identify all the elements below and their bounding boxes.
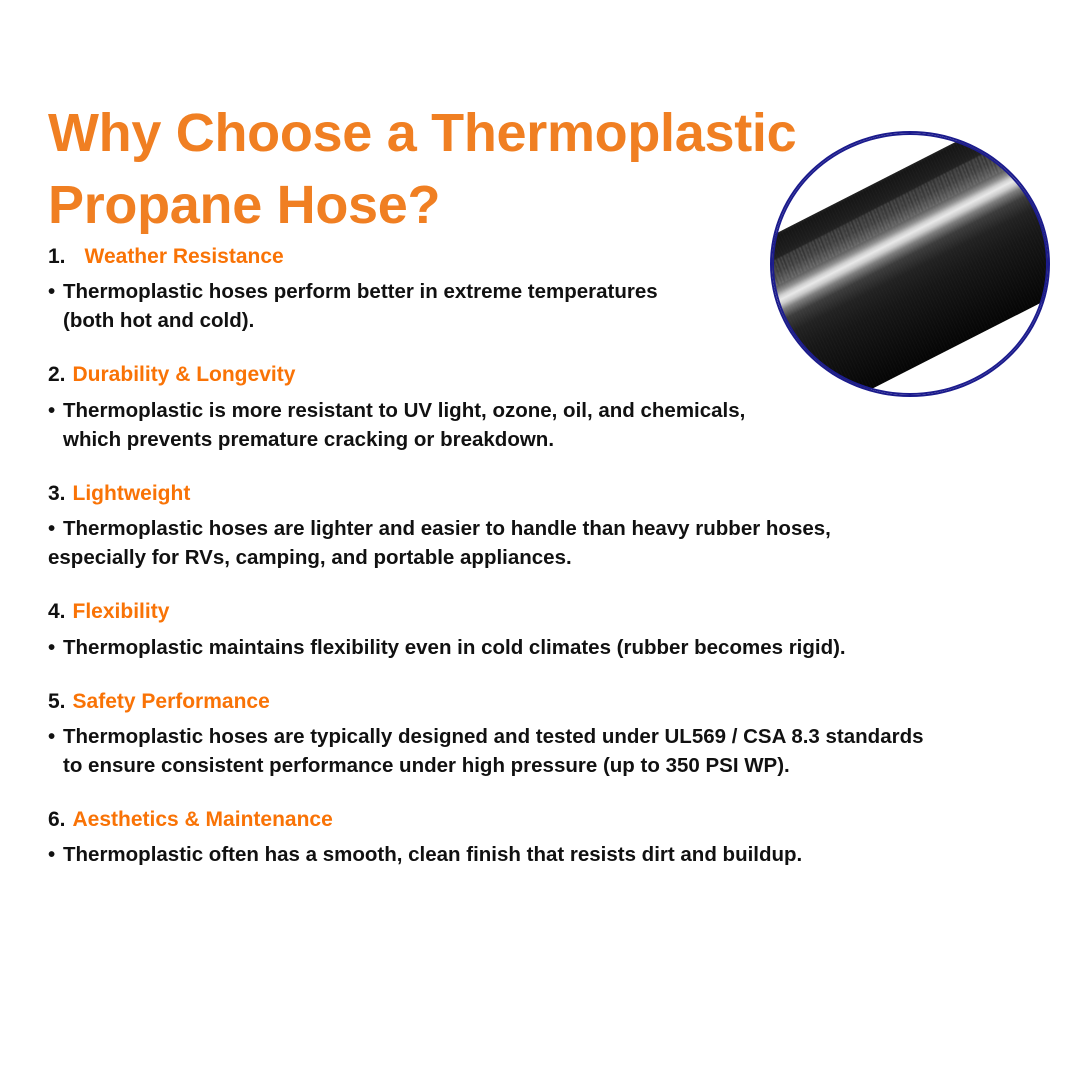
list-item: 3.Lightweight•Thermoplastic hoses are li…: [48, 481, 1056, 572]
bullet-dot-icon: •: [48, 722, 63, 751]
bullet-dot-icon: •: [48, 396, 63, 425]
list-item-body-text: Thermoplastic hoses are lighter and easi…: [48, 514, 1056, 572]
list-item-body-text: Thermoplastic hoses are typically design…: [63, 722, 1056, 780]
list-item-body-text: Thermoplastic often has a smooth, clean …: [48, 840, 1056, 869]
infographic-page: Why Choose a Thermoplastic Propane Hose?…: [0, 0, 1080, 1080]
hose-photo-circle: [772, 133, 1048, 395]
list-item-heading: 3.Lightweight: [48, 481, 1056, 507]
list-item-body-text: Thermoplastic is more resistant to UV li…: [63, 396, 1056, 454]
page-title: Why Choose a Thermoplastic Propane Hose?: [48, 98, 848, 242]
list-item-bullet-row: •Thermoplastic hoses are lighter and eas…: [48, 514, 1056, 572]
list-item: 4.Flexibility•Thermoplastic maintains fl…: [48, 599, 1056, 661]
list-item-body-text: Thermoplastic maintains flexibility even…: [48, 633, 1056, 662]
list-item-number: 6.: [48, 807, 66, 833]
list-item-number: 2.: [48, 362, 66, 388]
list-item: 6.Aesthetics & Maintenance•Thermoplastic…: [48, 807, 1056, 869]
list-item-number: 4.: [48, 599, 66, 625]
list-item-title: Flexibility: [73, 599, 170, 625]
list-item-bullet-row: •Thermoplastic often has a smooth, clean…: [48, 840, 1056, 869]
list-item-number: 3.: [48, 481, 66, 507]
hose-tube-graphic: [772, 133, 1048, 395]
list-item-heading: 5.Safety Performance: [48, 689, 1056, 715]
list-item-title: Aesthetics & Maintenance: [73, 807, 333, 833]
list-item-bullet-row: •Thermoplastic maintains flexibility eve…: [48, 633, 1056, 662]
bullet-dot-icon: •: [48, 277, 63, 306]
list-item-bullet-row: •Thermoplastic is more resistant to UV l…: [48, 396, 1056, 454]
list-item-title: Lightweight: [73, 481, 191, 507]
list-item-number: 1.: [48, 244, 66, 270]
list-item-number: 5.: [48, 689, 66, 715]
list-item-heading: 6.Aesthetics & Maintenance: [48, 807, 1056, 833]
list-item: 5.Safety Performance•Thermoplastic hoses…: [48, 689, 1056, 780]
list-item-bullet-row: •Thermoplastic hoses are typically desig…: [48, 722, 1056, 780]
list-item-title: Weather Resistance: [85, 244, 284, 270]
list-item-heading: 4.Flexibility: [48, 599, 1056, 625]
list-item-title: Safety Performance: [73, 689, 270, 715]
list-item-title: Durability & Longevity: [73, 362, 296, 388]
